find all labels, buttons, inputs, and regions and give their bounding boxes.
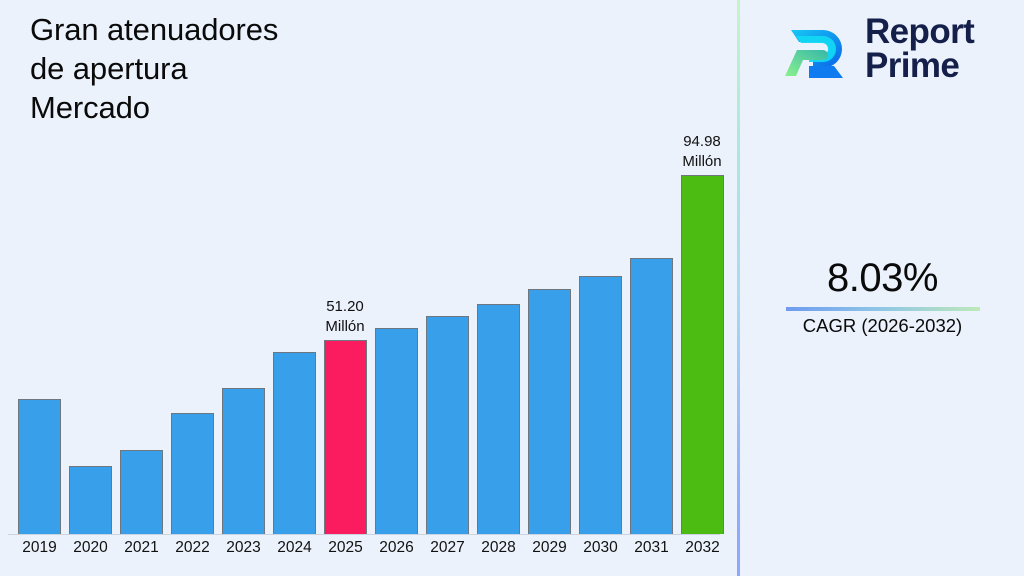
chart-panel: Gran atenuadores de apertura Mercado 51.… xyxy=(0,0,738,576)
bar-chart-plot-area: 51.20 Millón94.98 Millón xyxy=(0,160,728,535)
bar-rect-2021[interactable] xyxy=(120,450,163,534)
chart-title: Gran atenuadores de apertura Mercado xyxy=(30,10,470,127)
bar-rect-2031[interactable] xyxy=(630,258,673,534)
bar-2031[interactable] xyxy=(630,258,673,534)
bar-rect-2027[interactable] xyxy=(426,316,469,534)
brand-panel: Report Prime 8.03% CAGR (2026-2032) xyxy=(741,0,1024,576)
bar-2032[interactable] xyxy=(681,175,724,534)
bar-rect-2025[interactable] xyxy=(324,340,367,534)
bar-rect-2032[interactable] xyxy=(681,175,724,534)
bar-rect-2019[interactable] xyxy=(18,399,61,534)
report-prime-logomark-icon xyxy=(779,14,853,84)
bar-2025[interactable] xyxy=(324,340,367,534)
bar-2027[interactable] xyxy=(426,316,469,534)
bar-value-label-2025: 51.20 Millón xyxy=(325,297,364,336)
bar-2021[interactable] xyxy=(120,450,163,534)
bar-2028[interactable] xyxy=(477,304,520,534)
x-tick-2022: 2022 xyxy=(167,539,218,557)
x-tick-2020: 2020 xyxy=(65,539,116,557)
bar-2026[interactable] xyxy=(375,328,418,534)
bar-rect-2024[interactable] xyxy=(273,352,316,534)
bar-rect-2023[interactable] xyxy=(222,388,265,534)
bar-rect-2026[interactable] xyxy=(375,328,418,534)
cagr-divider-rule xyxy=(786,307,980,311)
bar-rect-2029[interactable] xyxy=(528,289,571,534)
panel-divider xyxy=(737,0,740,576)
bar-2023[interactable] xyxy=(222,388,265,534)
x-tick-2025: 2025 xyxy=(320,539,371,557)
cagr-block: 8.03% CAGR (2026-2032) xyxy=(741,256,1024,337)
brand-name: Report Prime xyxy=(865,15,974,84)
bar-2019[interactable] xyxy=(18,399,61,534)
x-axis-line xyxy=(8,534,720,535)
bar-2030[interactable] xyxy=(579,276,622,534)
chart-screenshot: Gran atenuadores de apertura Mercado 51.… xyxy=(0,0,1024,576)
x-tick-2026: 2026 xyxy=(371,539,422,557)
x-tick-2029: 2029 xyxy=(524,539,575,557)
bar-2022[interactable] xyxy=(171,413,214,534)
x-tick-2019: 2019 xyxy=(14,539,65,557)
bar-rect-2022[interactable] xyxy=(171,413,214,534)
bar-2029[interactable] xyxy=(528,289,571,534)
bar-rect-2020[interactable] xyxy=(69,466,112,534)
bar-value-label-2032: 94.98 Millón xyxy=(682,132,721,171)
x-axis-tick-labels: 2019202020212022202320242025202620272028… xyxy=(0,536,728,572)
bar-rect-2030[interactable] xyxy=(579,276,622,534)
x-tick-2021: 2021 xyxy=(116,539,167,557)
x-tick-2030: 2030 xyxy=(575,539,626,557)
brand-logo: Report Prime xyxy=(779,14,974,84)
bar-2020[interactable] xyxy=(69,466,112,534)
cagr-label: CAGR (2026-2032) xyxy=(741,315,1024,337)
x-tick-2031: 2031 xyxy=(626,539,677,557)
x-tick-2027: 2027 xyxy=(422,539,473,557)
x-tick-2032: 2032 xyxy=(677,539,728,557)
bar-2024[interactable] xyxy=(273,352,316,534)
x-tick-2023: 2023 xyxy=(218,539,269,557)
cagr-value: 8.03% xyxy=(741,256,1024,301)
x-tick-2024: 2024 xyxy=(269,539,320,557)
bar-rect-2028[interactable] xyxy=(477,304,520,534)
x-tick-2028: 2028 xyxy=(473,539,524,557)
